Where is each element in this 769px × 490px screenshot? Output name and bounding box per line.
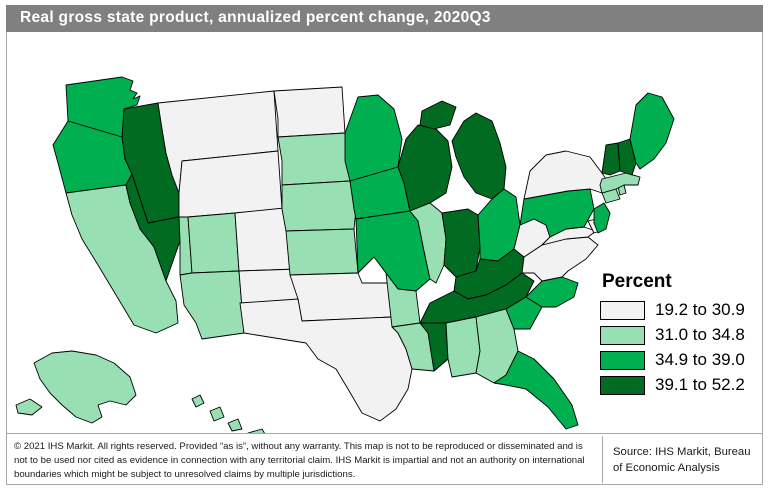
legend-label: 39.1 to 52.2 [655,375,745,395]
legend-row: 19.2 to 30.9 [600,298,760,323]
state-ut: Utah [188,213,239,273]
footer: © 2021 IHS Markit. All rights reserved. … [6,434,763,485]
legend-label: 34.9 to 39.0 [655,350,745,370]
state-wy: Wyoming [179,151,282,217]
state-mi: Michigan [420,101,456,129]
state-ne: Nebraska [282,181,356,231]
state-in: Indiana [442,209,480,277]
copyright-disclaimer: © 2021 IHS Markit. All rights reserved. … [6,434,602,482]
state-az: Arizona [180,271,244,339]
state-vt: Vermont [602,143,620,175]
source-attribution: Source: IHS Markit, Bureau of Economic A… [603,434,763,477]
state-ak: Alaska [34,351,136,423]
state-sd: South Dakota [278,133,350,185]
state-hi: Hawaii [228,419,242,431]
state-nj: New Jersey [594,203,610,233]
state-ok: Oklahoma [290,273,392,321]
state-mi: Michigan [452,113,506,199]
state-ak: Alaska [16,399,42,415]
legend-row: 34.9 to 39.0 [600,348,760,373]
state-me: Maine [630,93,674,169]
legend-row: 31.0 to 34.8 [600,323,760,348]
state-hi: Hawaii [210,407,224,421]
page-title: Real gross state product, annualized per… [20,9,491,27]
legend-swatch [600,301,645,320]
legend-row: 39.1 to 52.2 [600,373,760,398]
map-figure: Real gross state product, annualized per… [0,0,769,490]
legend-rows: 19.2 to 30.931.0 to 34.834.9 to 39.039.1… [600,298,760,398]
legend-swatch [600,376,645,395]
title-bar: Real gross state product, annualized per… [6,5,763,32]
legend-swatch [600,326,645,345]
state-hi: Hawaii [192,395,204,407]
legend-label: 31.0 to 34.8 [655,325,745,345]
state-ks: Kansas [286,229,358,275]
legend-swatch [600,351,645,370]
legend: Percent 19.2 to 30.931.0 to 34.834.9 to … [600,272,760,398]
state-nd: North Dakota [274,87,345,137]
legend-label: 19.2 to 30.9 [655,300,745,320]
states-layer: WashingtonOregonCaliforniaIdahoNevadaMon… [16,77,674,433]
state-al: Alabama [446,317,480,377]
legend-title: Percent [602,272,760,292]
